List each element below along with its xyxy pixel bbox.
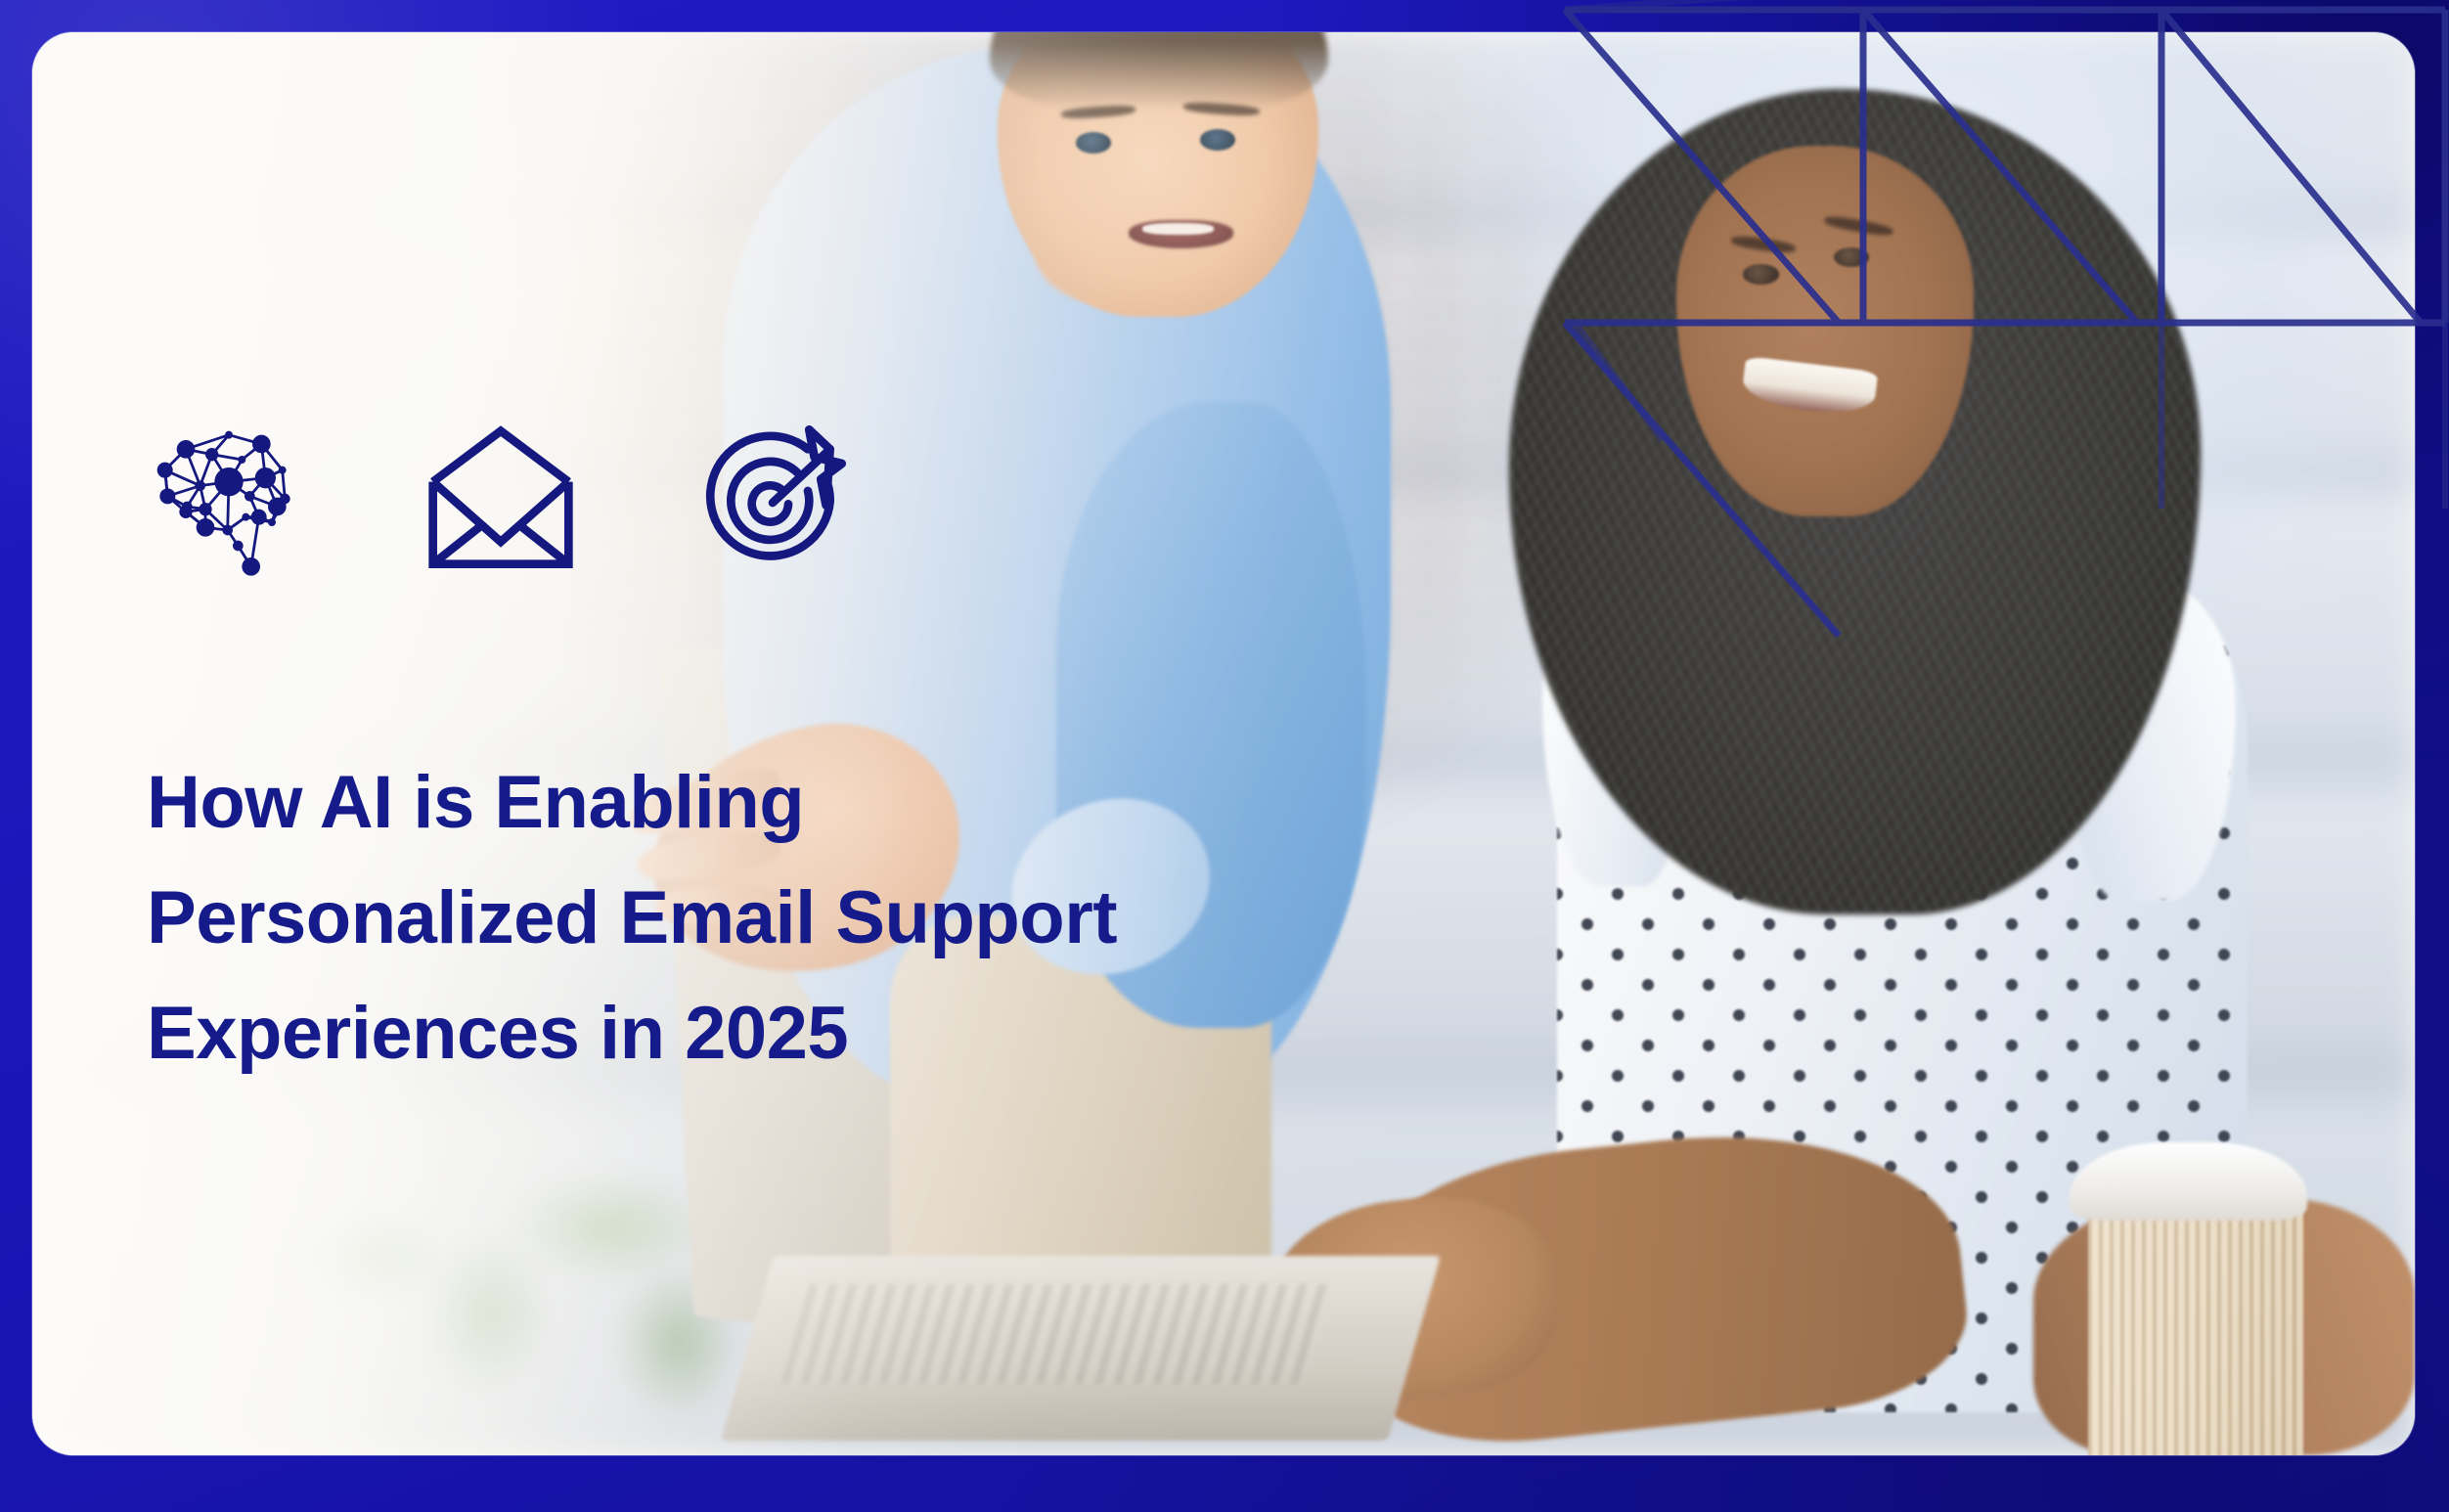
banner-content: How AI is Enabling Personalized Email Su… xyxy=(147,0,1320,1512)
page-title: How AI is Enabling Personalized Email Su… xyxy=(147,745,1301,1091)
open-envelope-icon xyxy=(423,421,579,577)
icon-row xyxy=(147,421,855,577)
blog-banner: How AI is Enabling Personalized Email Su… xyxy=(0,0,2449,1512)
brain-network-icon xyxy=(147,421,303,577)
target-arrow-icon xyxy=(698,421,855,577)
